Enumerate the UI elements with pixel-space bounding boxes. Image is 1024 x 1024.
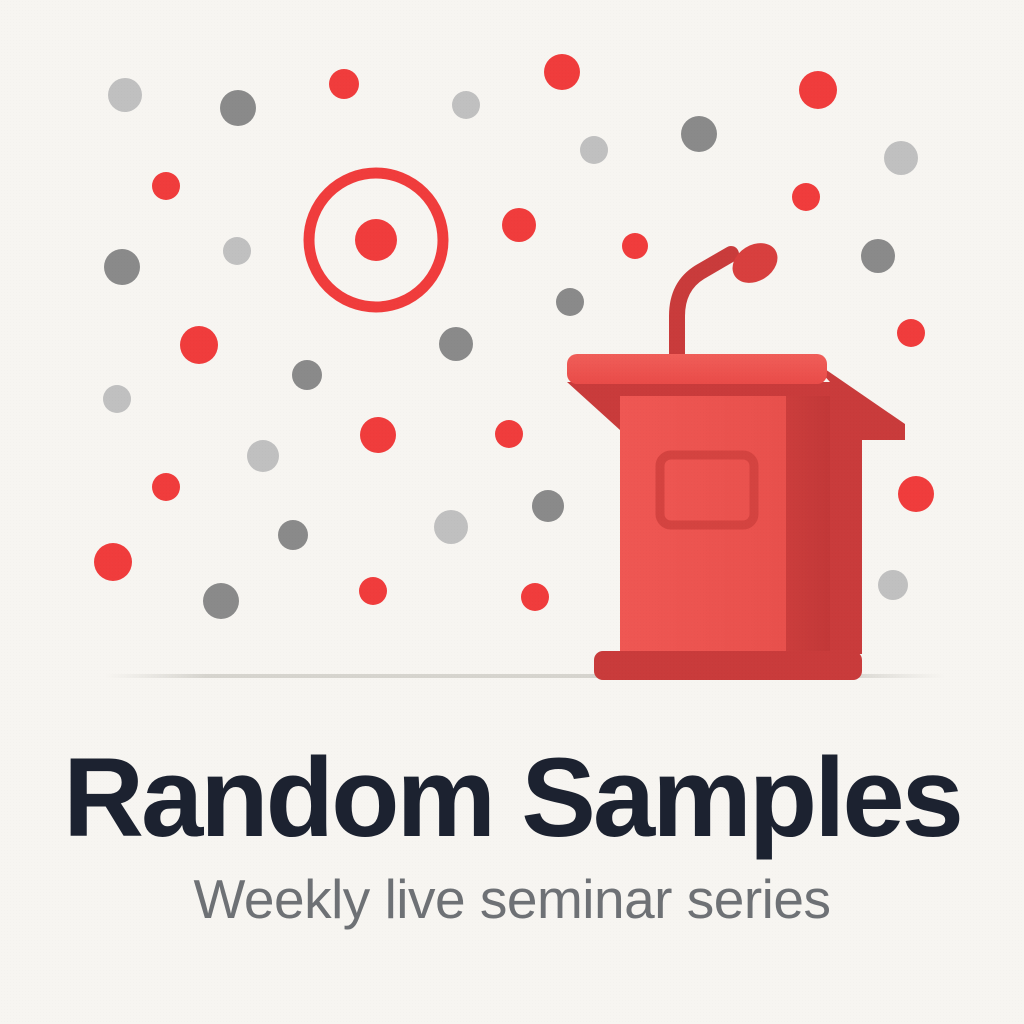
scatter-dot	[103, 385, 131, 413]
scatter-dot	[556, 288, 584, 316]
scatter-dot	[439, 327, 473, 361]
scatter-dot	[359, 577, 387, 605]
bullseye-target-icon	[309, 173, 443, 307]
scatter-dot	[799, 71, 837, 109]
scatter-dot	[220, 90, 256, 126]
scatter-dot	[203, 583, 239, 619]
scatter-dot	[532, 490, 564, 522]
lectern-top-slab	[567, 354, 827, 384]
microphone-icon	[677, 235, 785, 360]
scatter-dot	[452, 91, 480, 119]
scatter-dot	[329, 69, 359, 99]
page-title: Random Samples	[0, 742, 1024, 854]
scatter-dot	[622, 233, 648, 259]
scatter-dot	[898, 476, 934, 512]
scatter-dot	[434, 510, 468, 544]
scatter-dot	[223, 237, 251, 265]
lectern-base	[594, 651, 862, 680]
lectern-side-column	[786, 396, 830, 654]
scatter-dot	[792, 183, 820, 211]
scatter-dot	[292, 360, 322, 390]
scatter-dot	[360, 417, 396, 453]
scatter-dot	[521, 583, 549, 611]
scatter-dot	[104, 249, 140, 285]
scatter-dot	[681, 116, 717, 152]
scatter-dot	[544, 54, 580, 90]
lectern	[567, 354, 905, 680]
scatter-dot	[495, 420, 523, 448]
poster-canvas: Random Samples Weekly live seminar serie…	[0, 0, 1024, 1024]
scatter-dot	[108, 78, 142, 112]
scatter-dot	[94, 543, 132, 581]
scatter-dot	[884, 141, 918, 175]
scatter-dot	[502, 208, 536, 242]
scatter-dot	[897, 319, 925, 347]
page-subtitle: Weekly live seminar series	[0, 872, 1024, 927]
scatter-dot	[247, 440, 279, 472]
scatter-dot	[278, 520, 308, 550]
scatter-dot	[180, 326, 218, 364]
scatter-dot	[152, 172, 180, 200]
scatter-dot	[580, 136, 608, 164]
scatter-dot	[878, 570, 908, 600]
scatter-dot	[152, 473, 180, 501]
scatter-dot	[861, 239, 895, 273]
